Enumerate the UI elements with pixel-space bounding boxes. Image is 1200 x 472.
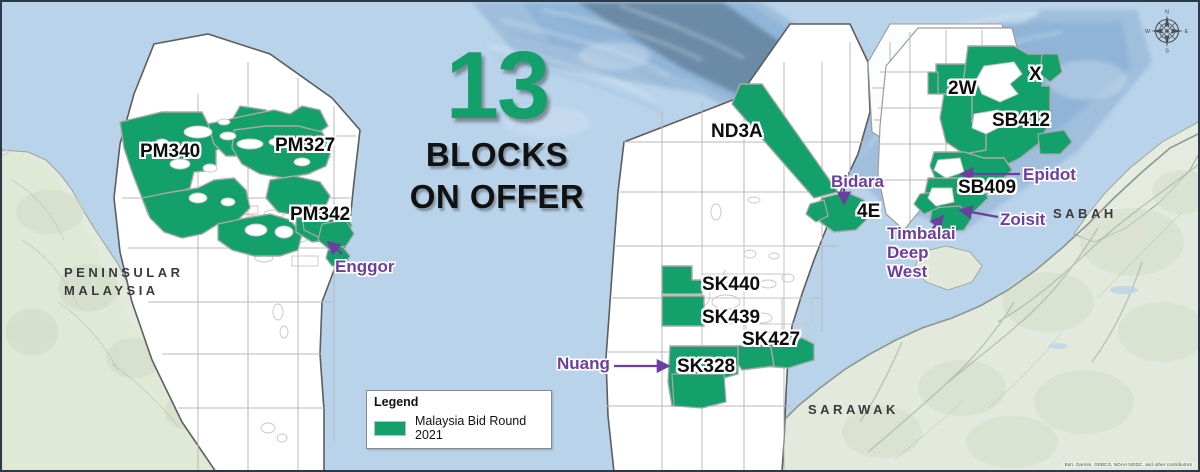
arrow-zoisit: [960, 210, 998, 217]
headline-line1: BLOCKS: [402, 138, 592, 172]
annotation-arrows-layer: [2, 2, 1200, 472]
headline: 13 BLOCKS ON OFFER: [402, 42, 592, 214]
headline-number: 13: [402, 42, 592, 130]
legend-swatch-icon: [374, 421, 406, 436]
compass-rose-icon: N S E W: [1144, 8, 1190, 54]
compass-east-label: E: [1185, 29, 1189, 35]
legend: Legend Malaysia Bid Round 2021: [366, 390, 552, 449]
headline-line2: ON OFFER: [402, 180, 592, 214]
legend-entry-label: Malaysia Bid Round 2021: [415, 414, 544, 442]
attribution-text: Esri, Garmin, GEBCO, NOAA NGDC, and othe…: [1063, 462, 1194, 467]
legend-entry[interactable]: Malaysia Bid Round 2021: [374, 414, 544, 442]
bid-round-map: PENINSULAR MALAYSIA SARAWAK SABAH PM340 …: [0, 0, 1200, 472]
compass-north-label: N: [1165, 10, 1169, 16]
legend-title: Legend: [374, 395, 544, 409]
arrow-timbalai: [930, 216, 943, 232]
arrow-enggor: [328, 242, 342, 254]
compass-south-label: S: [1165, 48, 1169, 54]
compass-west-label: W: [1145, 29, 1151, 35]
